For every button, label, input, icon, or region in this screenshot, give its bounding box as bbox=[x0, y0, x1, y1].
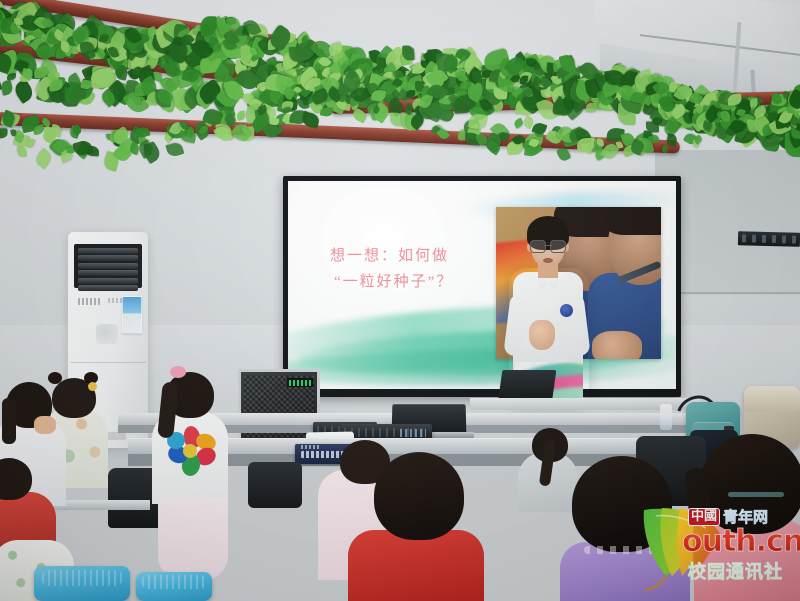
slide-text-block: 想一想：如何做 “一粒好种子”？ bbox=[330, 243, 520, 296]
wall-mounted-fixture bbox=[738, 231, 800, 247]
ac-panel-seam bbox=[70, 362, 146, 363]
slide-text-line1: 想一想：如何做 bbox=[330, 243, 520, 269]
presenter-mouth bbox=[543, 258, 553, 263]
chair-mid bbox=[248, 462, 302, 508]
presenter-school-badge bbox=[560, 304, 573, 317]
stool-left bbox=[34, 566, 130, 601]
ac-brand-logo bbox=[78, 298, 100, 305]
watermark-china-badge: 中國 bbox=[688, 508, 720, 526]
watermark-domain: outh.cn bbox=[682, 524, 800, 559]
ac-energy-label bbox=[122, 296, 142, 334]
water-bottle bbox=[660, 404, 672, 430]
glasses-icon bbox=[530, 240, 566, 251]
watermark: 中國 青年网 outh.cn 校园通讯社 bbox=[636, 496, 800, 601]
watermark-subtitle: 校园通讯社 bbox=[688, 558, 783, 584]
device-brand-mark bbox=[301, 445, 319, 449]
stool-left-2 bbox=[136, 572, 212, 601]
ac-grille-icon bbox=[74, 244, 142, 288]
speaker-led-display bbox=[287, 378, 313, 387]
watermark-text: 中國 青年网 outh.cn 校园通讯社 bbox=[688, 500, 800, 598]
presenter-hands bbox=[529, 320, 555, 350]
photo-handshake bbox=[592, 331, 642, 359]
photo-person2-hair bbox=[606, 207, 661, 235]
projection-screen: 想一想：如何做 “一粒好种子”？ bbox=[288, 181, 676, 389]
screenshot-root: 想一想：如何做 “一粒好种子”？ bbox=[0, 0, 800, 601]
ac-emblem bbox=[96, 324, 118, 344]
slide-text-line2: “一粒好种子”？ bbox=[334, 269, 520, 295]
